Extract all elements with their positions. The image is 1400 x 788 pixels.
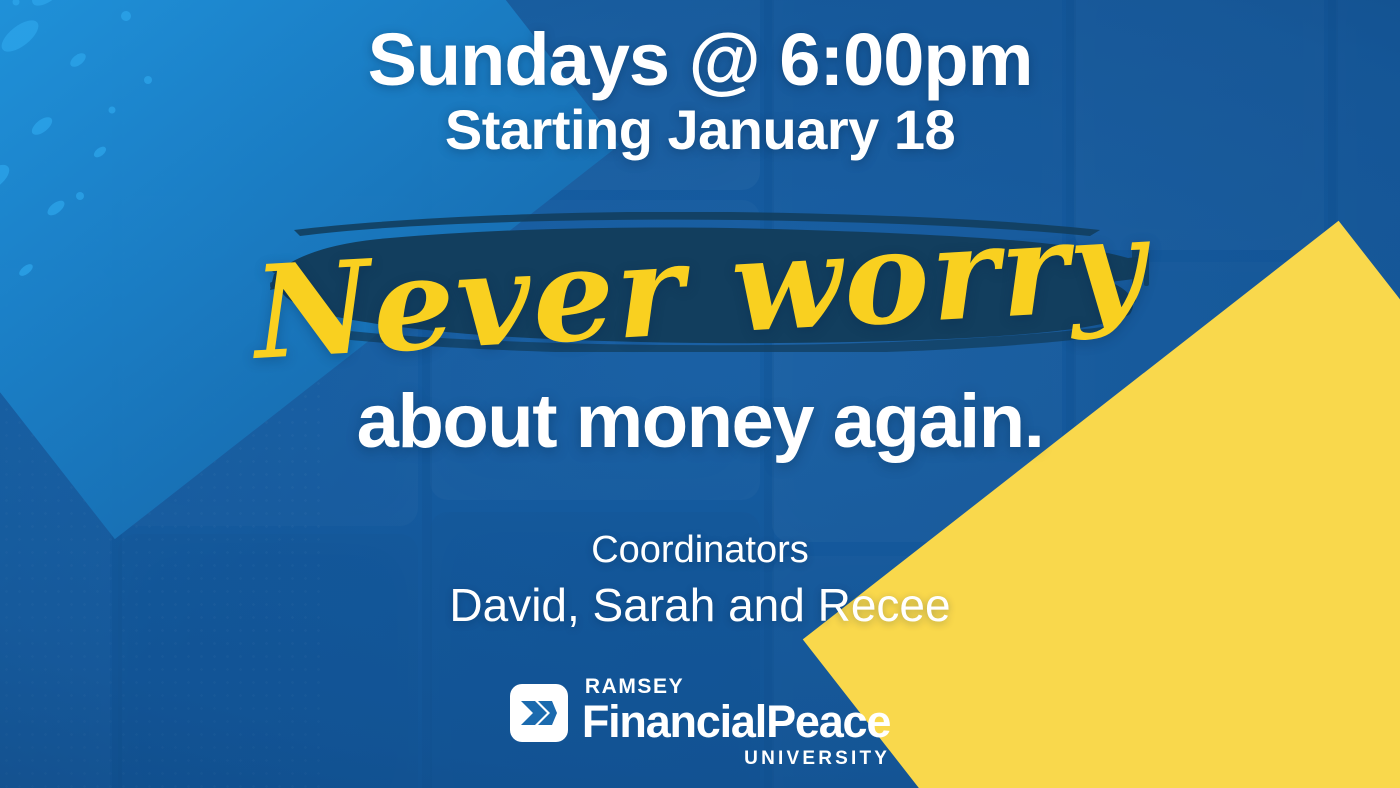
fpu-logo: RAMSEY FinancialPeace UNIVERSITY [510, 676, 890, 767]
ramsey-mark [510, 684, 568, 742]
logo-brand: RAMSEY [585, 676, 890, 697]
coordinators-names: David, Sarah and Recee [449, 578, 950, 632]
script-headline-block: Never worry [170, 174, 1230, 404]
logo-program: UNIVERSITY [582, 749, 890, 768]
promo-poster: Sundays @ 6:00pm Starting January 18 Nev… [0, 0, 1400, 788]
subhead-start-date: Starting January 18 [445, 101, 955, 160]
poster-content: Sundays @ 6:00pm Starting January 18 Nev… [0, 0, 1400, 788]
logo-wordmark: RAMSEY FinancialPeace UNIVERSITY [582, 676, 890, 767]
coordinators-label: Coordinators [591, 529, 809, 572]
headline-time: Sundays @ 6:00pm [368, 22, 1033, 97]
logo-product: FinancialPeace [582, 698, 890, 745]
double-chevron-arrow-icon [519, 697, 559, 729]
script-never-worry: Never worry [164, 145, 1235, 434]
